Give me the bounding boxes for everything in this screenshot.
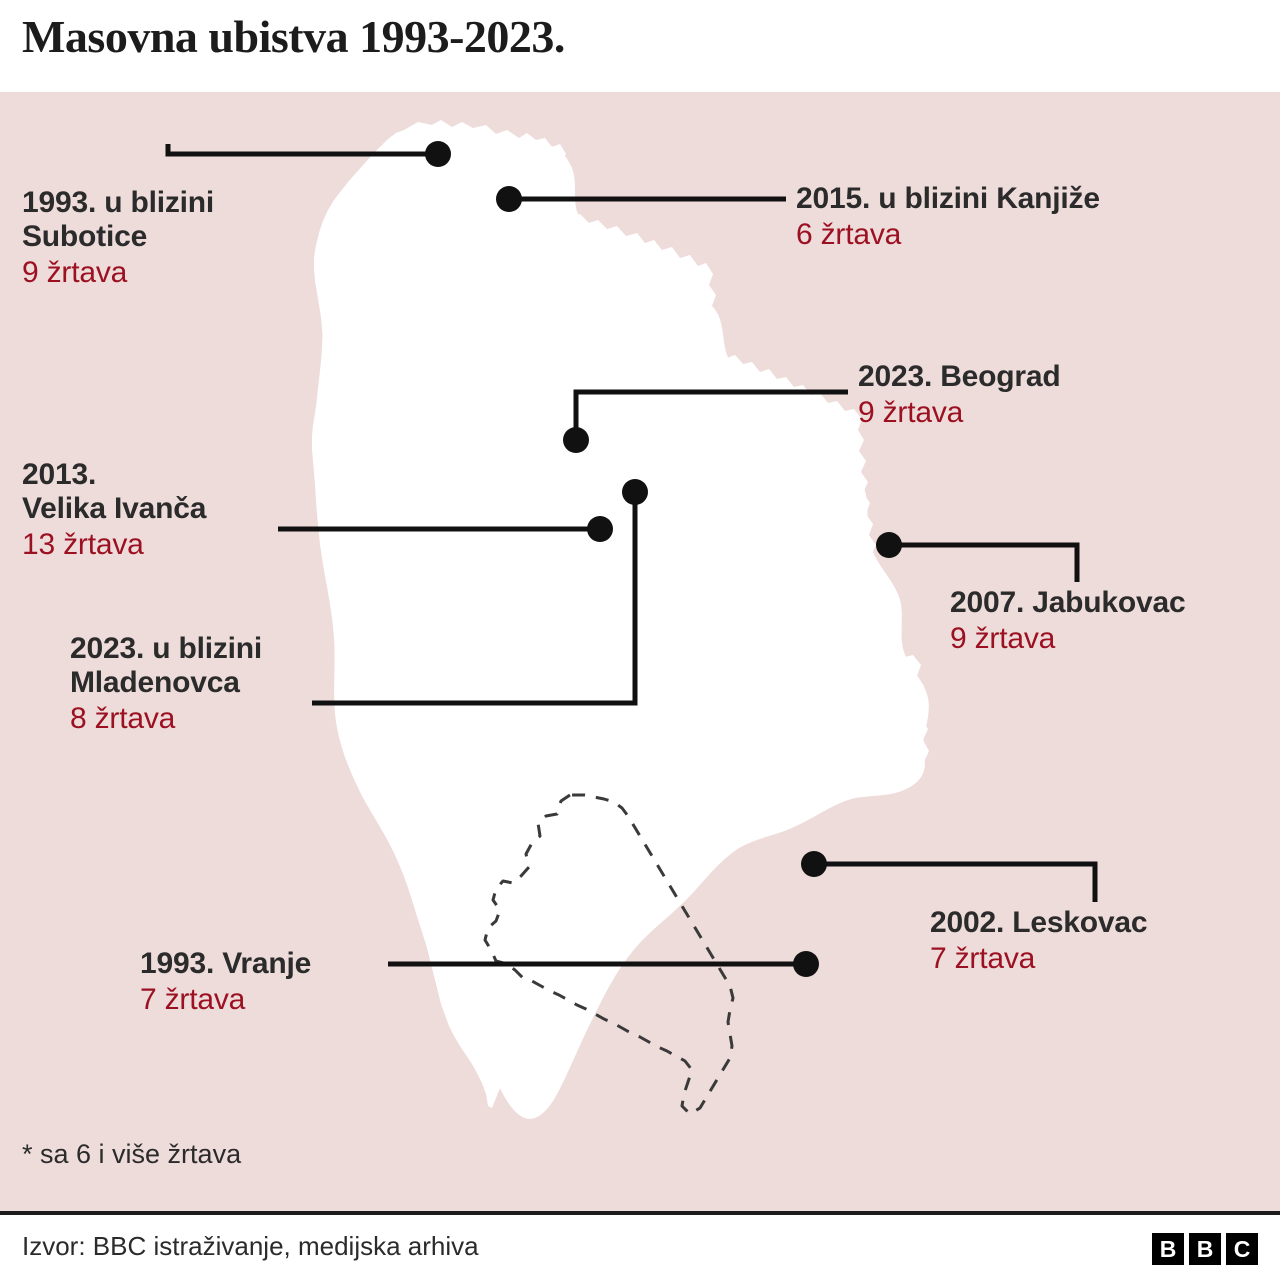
label-leskovac-line1: 2002. Leskovac [930,906,1147,940]
label-velika-ivanca-victims: 13 žrtava [22,528,206,562]
bbc-logo: B B C [1152,1233,1258,1265]
label-kanjiza-line1: 2015. u blizini Kanjiže [796,182,1100,216]
marker-dot-kanjiza [496,186,522,212]
label-subotica: 1993. u blizini Subotice 9 žrtava [22,186,214,291]
label-subotica-victims: 9 žrtava [22,256,214,290]
label-velika-ivanca-line1: 2013. [22,458,206,492]
marker-dot-velika-ivanca [587,516,613,542]
footer: Izvor: BBC istraživanje, medijska arhiva… [0,1211,1280,1280]
infographic-root: Masovna ubistva 1993-2023. [0,0,1280,1280]
map-panel: 1993. u blizini Subotice 9 žrtava 2015. … [0,92,1280,1211]
label-mladenovac: 2023. u blizini Mladenovca 8 žrtava [70,632,262,737]
source-text: Izvor: BBC istraživanje, medijska arhiva [22,1231,479,1262]
bbc-logo-letter-1: B [1152,1233,1184,1265]
label-mladenovac-line2: Mladenovca [70,666,262,700]
marker-dot-beograd [563,427,589,453]
label-leskovac: 2002. Leskovac 7 žrtava [930,906,1147,976]
footnote: * sa 6 i više žrtava [22,1139,241,1170]
label-jabukovac-victims: 9 žrtava [950,622,1186,656]
title-bar: Masovna ubistva 1993-2023. [0,0,1280,92]
bbc-logo-letter-3: C [1226,1233,1258,1265]
label-velika-ivanca-line2: Velika Ivanča [22,492,206,526]
marker-dot-subotica [425,141,451,167]
label-leskovac-victims: 7 žrtava [930,942,1147,976]
label-mladenovac-victims: 8 žrtava [70,702,262,736]
serbia-outline-detail [314,135,929,1119]
label-jabukovac-line1: 2007. Jabukovac [950,586,1186,620]
label-velika-ivanca: 2013. Velika Ivanča 13 žrtava [22,458,206,563]
marker-dot-leskovac [801,851,827,877]
label-subotica-line1: 1993. u blizini [22,186,214,220]
marker-dot-mladenovac [622,479,648,505]
label-beograd-line1: 2023. Beograd [858,360,1061,394]
label-mladenovac-line1: 2023. u blizini [70,632,262,666]
label-vranje: 1993. Vranje 7 žrtava [140,947,311,1017]
label-jabukovac: 2007. Jabukovac 9 žrtava [950,586,1186,656]
label-vranje-victims: 7 žrtava [140,983,311,1017]
label-vranje-line1: 1993. Vranje [140,947,311,981]
marker-dot-jabukovac [876,532,902,558]
label-beograd: 2023. Beograd 9 žrtava [858,360,1061,430]
marker-dot-vranje [793,951,819,977]
label-kanjiza: 2015. u blizini Kanjiže 6 žrtava [796,182,1100,252]
page-title: Masovna ubistva 1993-2023. [22,10,565,63]
label-subotica-line2: Subotice [22,220,214,254]
label-kanjiza-victims: 6 žrtava [796,218,1100,252]
connector-leskovac [814,864,1095,902]
bbc-logo-letter-2: B [1189,1233,1221,1265]
label-beograd-victims: 9 žrtava [858,396,1061,430]
connector-jabukovac [889,545,1077,582]
